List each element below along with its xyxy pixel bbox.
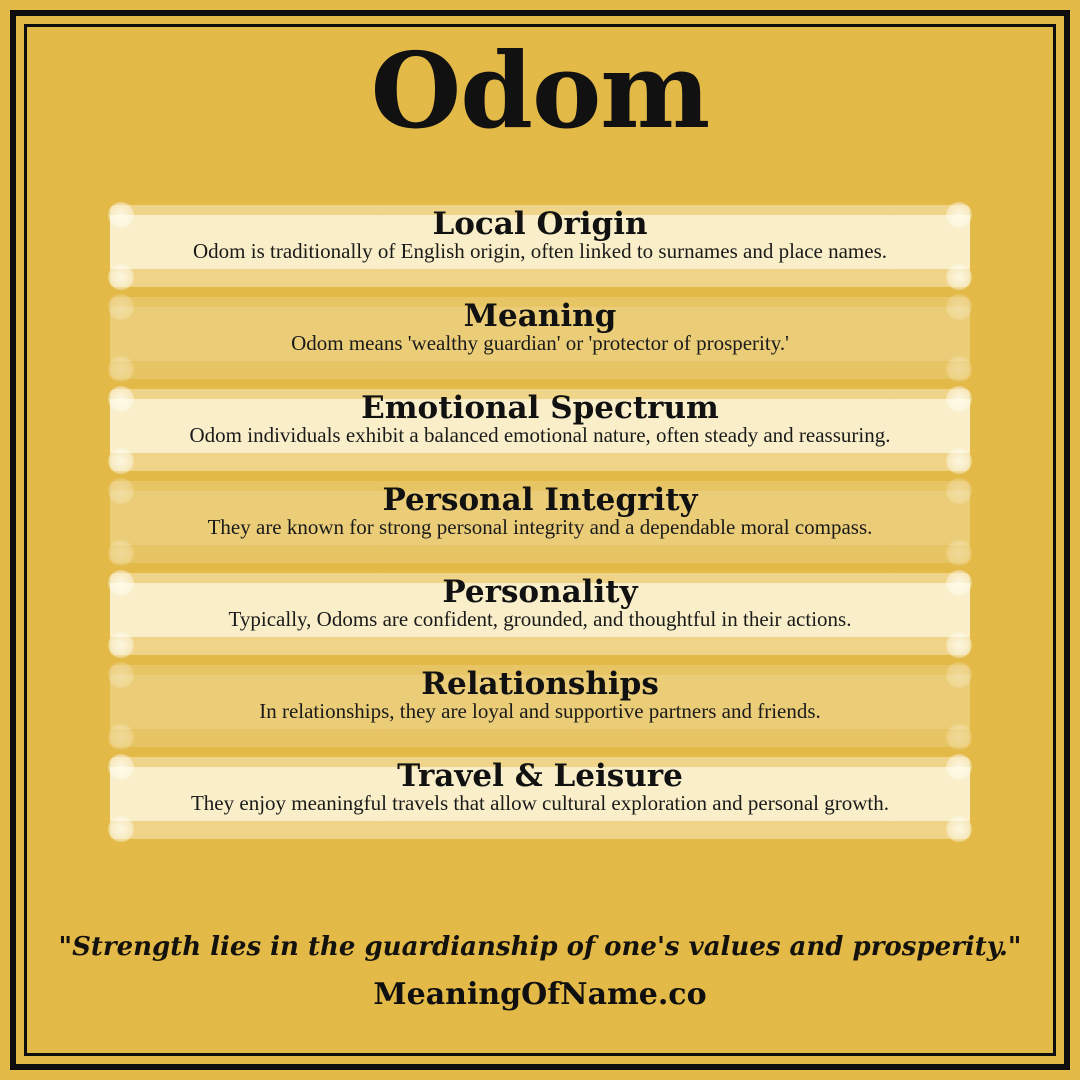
rivet-icon: [946, 632, 972, 658]
card-body: They are known for strong personal integ…: [110, 514, 970, 540]
rivet-icon: [108, 540, 134, 566]
card-body: Odom individuals exhibit a balanced emot…: [110, 422, 970, 448]
attribute-card: Meaning Odom means 'wealthy guardian' or…: [110, 297, 970, 379]
attribute-card: Relationships In relationships, they are…: [110, 665, 970, 747]
name-poster: Odom Local Origin Odom is traditionally …: [0, 0, 1080, 1080]
rivet-icon: [946, 356, 972, 382]
rivet-icon: [108, 448, 134, 474]
attribute-card: Personality Typically, Odoms are confide…: [110, 573, 970, 655]
footer-quote: "Strength lies in the guardianship of on…: [0, 932, 1080, 962]
rivet-icon: [108, 816, 134, 842]
card-body: They enjoy meaningful travels that allow…: [110, 790, 970, 816]
card-body: Odom means 'wealthy guardian' or 'protec…: [110, 330, 970, 356]
attribute-card: Local Origin Odom is traditionally of En…: [110, 205, 970, 287]
page-title: Odom: [0, 36, 1080, 145]
rivet-icon: [108, 264, 134, 290]
rivet-icon: [108, 356, 134, 382]
rivet-icon: [946, 816, 972, 842]
rivet-icon: [946, 724, 972, 750]
card-body: In relationships, they are loyal and sup…: [110, 698, 970, 724]
rivet-icon: [108, 632, 134, 658]
rivet-icon: [946, 264, 972, 290]
attribute-card: Emotional Spectrum Odom individuals exhi…: [110, 389, 970, 471]
rivet-icon: [946, 540, 972, 566]
attribute-card: Personal Integrity They are known for st…: [110, 481, 970, 563]
attribute-card-list: Local Origin Odom is traditionally of En…: [110, 205, 970, 849]
footer-brand: MeaningOfName.co: [0, 977, 1080, 1012]
card-body: Typically, Odoms are confident, grounded…: [110, 606, 970, 632]
attribute-card: Travel & Leisure They enjoy meaningful t…: [110, 757, 970, 839]
card-body: Odom is traditionally of English origin,…: [110, 238, 970, 264]
rivet-icon: [108, 724, 134, 750]
rivet-icon: [946, 448, 972, 474]
